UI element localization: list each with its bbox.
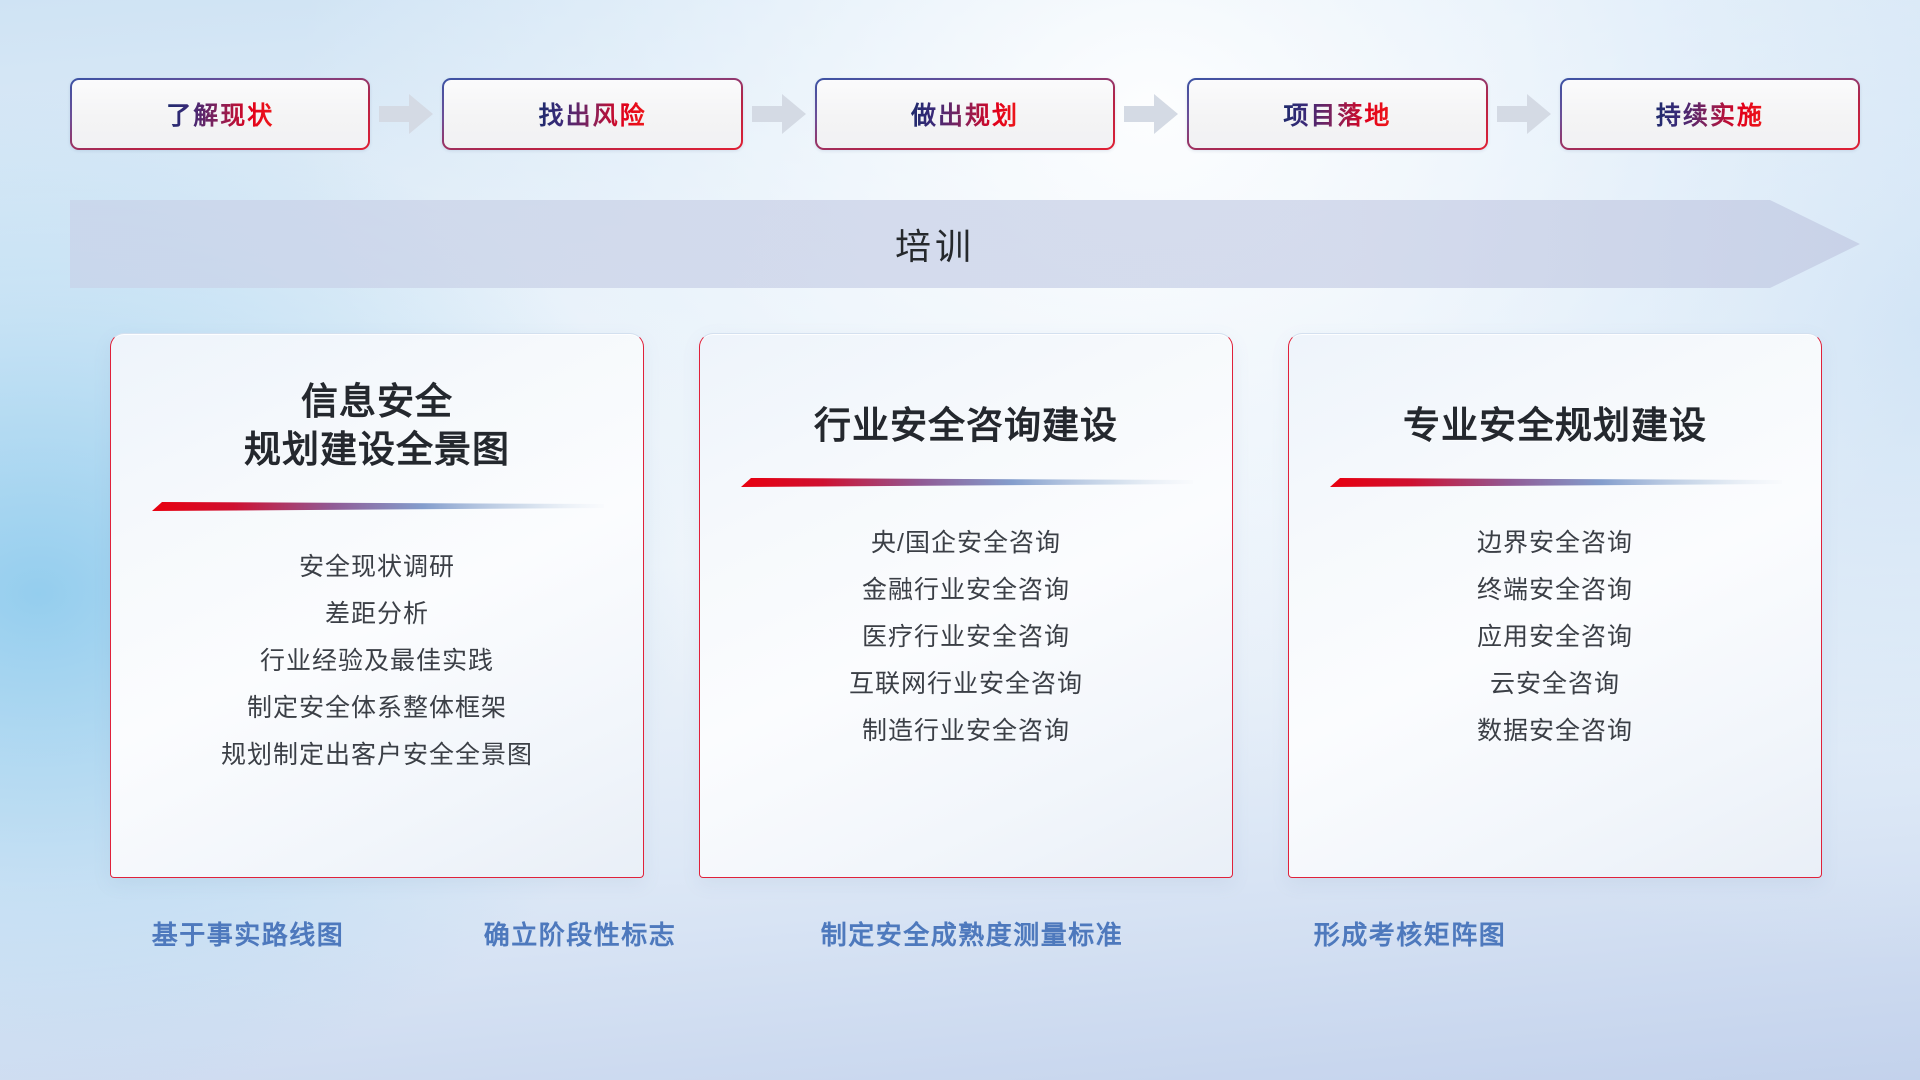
card-item-list: 安全现状调研 差距分析 行业经验及最佳实践 制定安全体系整体框架 规划制定出客户…: [137, 544, 617, 779]
list-item: 制定安全体系整体框架: [137, 685, 617, 732]
caption-4: 形成考核矩阵图: [1314, 915, 1507, 952]
banner-label: 培训: [70, 200, 1860, 288]
card-title: 信息安全 规划建设全景图: [244, 378, 510, 474]
card-item-list: 央/国企安全咨询 金融行业安全咨询 医疗行业安全咨询 互联网行业安全咨询 制造行…: [726, 520, 1206, 755]
step-box-inner: 找出风险: [444, 80, 740, 148]
card-information-security-panorama[interactable]: 信息安全 规划建设全景图: [110, 333, 644, 878]
list-item: 终端安全咨询: [1315, 567, 1795, 614]
list-item: 边界安全咨询: [1315, 520, 1795, 567]
card-industry-security-consulting[interactable]: 行业安全咨询建设: [699, 333, 1233, 878]
list-item: 安全现状调研: [137, 544, 617, 591]
list-item: 行业经验及最佳实践: [137, 638, 617, 685]
list-item: 金融行业安全咨询: [726, 567, 1206, 614]
card-title: 专业安全规划建设: [1403, 402, 1707, 450]
step-box-inner: 项目落地: [1189, 80, 1485, 148]
step-label: 做出规划: [911, 96, 1019, 132]
bottom-captions: 基于事实路线图 确立阶段性标志 制定安全成熟度测量标准 形成考核矩阵图: [100, 915, 1840, 959]
list-item: 差距分析: [137, 591, 617, 638]
list-item: 互联网行业安全咨询: [726, 661, 1206, 708]
step-box-1[interactable]: 了解现状: [70, 78, 370, 150]
process-steps: 了解现状 找出风险 做出规划 项目落地: [70, 78, 1860, 150]
card-divider-icon: [739, 476, 1193, 490]
step-label: 项目落地: [1283, 96, 1391, 132]
step-box-4[interactable]: 项目落地: [1187, 78, 1487, 150]
list-item: 数据安全咨询: [1315, 708, 1795, 755]
list-item: 央/国企安全咨询: [726, 520, 1206, 567]
step-box-3[interactable]: 做出规划: [815, 78, 1115, 150]
card-item-list: 边界安全咨询 终端安全咨询 应用安全咨询 云安全咨询 数据安全咨询: [1315, 520, 1795, 755]
step-arrow-icon-3: [1124, 94, 1178, 134]
slide-canvas: 了解现状 找出风险 做出规划 项目落地: [0, 0, 1920, 1080]
step-label: 了解现状: [166, 96, 274, 132]
step-arrow-icon-4: [1497, 94, 1551, 134]
step-arrow-icon-2: [752, 94, 806, 134]
step-box-inner: 做出规划: [817, 80, 1113, 148]
card-divider-icon: [1328, 476, 1782, 490]
step-label: 持续实施: [1656, 96, 1764, 132]
list-item: 规划制定出客户安全全景图: [137, 732, 617, 779]
list-item: 应用安全咨询: [1315, 614, 1795, 661]
step-box-inner: 持续实施: [1562, 80, 1858, 148]
step-arrow-icon-1: [379, 94, 433, 134]
step-label: 找出风险: [539, 96, 647, 132]
training-banner: 培训: [70, 200, 1860, 288]
caption-2: 确立阶段性标志: [484, 915, 677, 952]
caption-1: 基于事实路线图: [152, 915, 345, 952]
list-item: 医疗行业安全咨询: [726, 614, 1206, 661]
list-item: 制造行业安全咨询: [726, 708, 1206, 755]
card-divider-icon: [150, 500, 604, 514]
step-box-inner: 了解现状: [72, 80, 368, 148]
caption-3: 制定安全成熟度测量标准: [821, 915, 1124, 952]
card-title: 行业安全咨询建设: [814, 402, 1118, 450]
card-professional-security-planning[interactable]: 专业安全规划建设: [1288, 333, 1822, 878]
step-box-5[interactable]: 持续实施: [1560, 78, 1860, 150]
cards-row: 信息安全 规划建设全景图: [110, 333, 1822, 878]
step-box-2[interactable]: 找出风险: [442, 78, 742, 150]
list-item: 云安全咨询: [1315, 661, 1795, 708]
